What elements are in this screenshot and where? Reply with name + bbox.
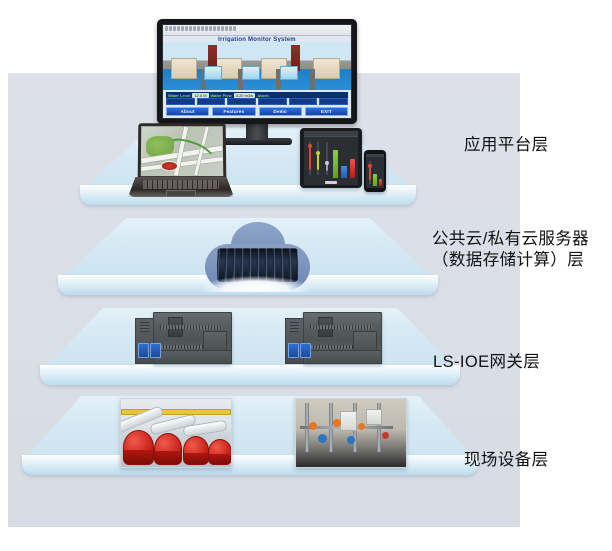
water-flow-label: Water Flow	[211, 93, 232, 98]
gate-readout-cell	[289, 98, 318, 105]
shelf-top-surface	[40, 308, 460, 372]
gauge-knob	[368, 164, 372, 168]
laptop-lid	[138, 123, 227, 179]
smartphone[interactable]	[364, 150, 386, 192]
chart-bar	[379, 179, 382, 186]
red-pump	[154, 433, 182, 465]
valve-handle-icon	[382, 432, 389, 439]
gate-readout-cell	[258, 98, 287, 105]
valve-handle-icon	[347, 436, 355, 444]
pump-housing	[124, 450, 153, 464]
shelf-field-device	[22, 396, 478, 462]
monitor-screen: Irrigation Monitor System Water Level 12…	[162, 24, 352, 119]
toolbar-icon	[197, 26, 200, 31]
pump-housing	[155, 451, 181, 464]
red-pump	[208, 439, 232, 465]
laptop-screen	[141, 126, 224, 176]
tablet-home-indicator[interactable]	[325, 181, 337, 184]
toolbar-icon	[217, 26, 220, 31]
sluice-gate	[280, 66, 298, 80]
valve-handle-icon	[358, 423, 365, 430]
chart-bar	[333, 150, 339, 178]
pump-housing	[209, 454, 231, 464]
toolbar-icon	[229, 26, 232, 31]
irrigation-scene-graphic	[163, 42, 351, 90]
plc-terminal-strip	[160, 325, 222, 329]
tablet-app-bar	[304, 131, 358, 137]
gauge-knob	[325, 161, 329, 165]
shelf-gateway	[40, 308, 460, 372]
valve-manifold-photo	[295, 398, 407, 468]
plc-lower-cover	[303, 350, 382, 364]
water-level-value: 12.5 M	[192, 93, 208, 98]
pier	[310, 69, 315, 90]
layer-label-cloud-server: 公共云/私有云服务器 （数据存储计算）层	[432, 229, 589, 271]
dam-structure	[171, 58, 197, 79]
gauge-fill	[317, 152, 319, 170]
control-panel	[340, 411, 357, 431]
shelf-front-lip	[40, 365, 460, 385]
toolbar-icon	[205, 26, 208, 31]
toolbar-icon	[221, 26, 224, 31]
laptop-keyboard[interactable]	[143, 180, 219, 189]
toolbar-icon	[225, 26, 228, 31]
monitor-stand	[246, 124, 268, 140]
serial-port-icon	[150, 343, 161, 358]
tablet-screen	[304, 131, 358, 185]
toolbar-icon	[177, 26, 180, 31]
alarm-label: Alarm	[257, 93, 268, 98]
features-button[interactable]: Features	[212, 107, 255, 116]
sluice-gate	[204, 66, 222, 80]
map-marker-icon	[161, 161, 178, 171]
red-pump	[183, 436, 209, 465]
gate-readout-cell	[166, 98, 195, 105]
plc-gateway-1[interactable]	[135, 310, 230, 364]
shelf-top-surface	[22, 396, 478, 462]
gate-readout-rows	[166, 98, 348, 105]
gate-readout-cell	[197, 98, 226, 105]
phone-status-bar	[366, 154, 384, 157]
plc-vent	[140, 322, 149, 332]
exit-button[interactable]: EXIT	[305, 107, 348, 116]
toolbar-icon	[165, 26, 168, 31]
pump-housing	[184, 453, 208, 464]
desktop-monitor[interactable]: Irrigation Monitor System Water Level 12…	[157, 19, 357, 124]
sensor-gauge	[307, 139, 313, 178]
red-pump	[123, 430, 154, 465]
tablet-dashboard	[307, 139, 355, 178]
chart-bar	[373, 174, 376, 186]
app-toolbar	[163, 25, 351, 36]
plc-gateway-2[interactable]	[285, 310, 380, 364]
plc-lower-cover	[153, 350, 232, 364]
plc-vent	[290, 322, 299, 332]
gauge-fill	[309, 146, 311, 170]
shelf-front-lip	[22, 455, 478, 475]
app-button-bar: About Features Demo EXIT	[166, 107, 348, 116]
tablet[interactable]	[300, 128, 362, 188]
pump-station-photo	[120, 398, 232, 468]
water-level-label: Water Level	[168, 93, 190, 98]
phone-screen	[366, 154, 384, 188]
toolbar-icon	[201, 26, 204, 31]
serial-port-icon	[138, 343, 149, 358]
sluice-gate	[242, 66, 260, 80]
toolbar-icon	[169, 26, 172, 31]
laptop-trackpad[interactable]	[166, 190, 196, 196]
serial-port-icon	[300, 343, 311, 358]
laptop-base	[128, 177, 234, 197]
layer-label-gateway: LS-IOE网关层	[433, 352, 540, 373]
gate-readout-cell	[319, 98, 348, 105]
valve-room-scene	[296, 399, 406, 467]
control-panel	[366, 409, 381, 426]
layer-label-field-device: 现场设备层	[464, 450, 549, 471]
toolbar-icon	[181, 26, 184, 31]
sensor-gauge	[324, 139, 330, 178]
valve-handle-icon	[318, 434, 327, 443]
gauge-knob	[308, 144, 312, 148]
toolbar-icon	[173, 26, 176, 31]
cloud-mist-overlay	[201, 276, 310, 292]
diagram-canvas: Irrigation Monitor System Water Level 12…	[0, 0, 612, 551]
toolbar-icon	[213, 26, 216, 31]
demo-button[interactable]: Demo	[259, 107, 302, 116]
serial-port-icon	[288, 343, 299, 358]
pump-room-scene	[121, 399, 231, 467]
toolbar-icon	[233, 26, 236, 31]
laptop[interactable]	[128, 123, 234, 197]
plc-terminal-strip	[310, 325, 372, 329]
toolbar-icon	[189, 26, 192, 31]
layer-label-application-platform: 应用平台层	[464, 135, 549, 156]
water-flow-value: 3.20 m3/s	[234, 93, 256, 98]
gate-readout-cell	[227, 98, 256, 105]
toolbar-icon	[193, 26, 196, 31]
gauge-knob	[316, 151, 320, 155]
dam-structure	[313, 58, 339, 79]
toolbar-icon	[209, 26, 212, 31]
about-button[interactable]: About	[166, 107, 209, 116]
chart-bar	[350, 159, 356, 179]
sensor-gauge	[316, 139, 322, 178]
phone-dashboard	[368, 159, 382, 186]
cloud-server-graphic	[205, 222, 310, 290]
chart-bar	[341, 166, 347, 178]
sensor-gauge	[368, 159, 371, 186]
toolbar-icon	[185, 26, 188, 31]
